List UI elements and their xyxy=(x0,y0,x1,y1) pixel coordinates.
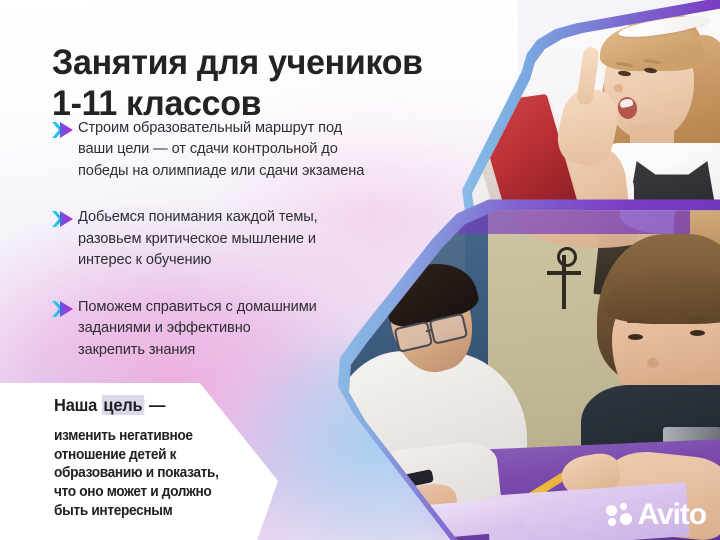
list-item-text: Поможем справиться с домашними заданиями… xyxy=(78,297,317,361)
student-eyebrow-right xyxy=(689,317,709,320)
benefits-list: Строим образовательный маршрут под ваши … xyxy=(52,118,420,386)
wall-cross-decoration xyxy=(562,255,566,309)
list-item-text: Добьемся понимания каждой темы, разовьем… xyxy=(78,207,318,271)
poster-canvas: Занятия для учеников 1-11 классов xyxy=(0,0,720,540)
student-eyebrow-left xyxy=(627,320,647,323)
list-item: Строим образовательный маршрут под ваши … xyxy=(52,118,420,182)
avito-watermark: Avito xyxy=(606,500,706,530)
girl-nose xyxy=(614,84,623,92)
goal-title-highlight: цель xyxy=(102,395,145,415)
list-item: Поможем справиться с домашними заданиями… xyxy=(52,297,420,361)
goal-title-prefix: Наша xyxy=(54,395,102,415)
list-item: Добьемся понимания каждой темы, разовьем… xyxy=(52,207,420,271)
list-item-text: Строим образовательный маршрут под ваши … xyxy=(78,118,364,182)
page-title: Занятия для учеников 1-11 классов xyxy=(52,43,469,124)
student-eye-left xyxy=(628,334,643,340)
double-chevron-icon xyxy=(52,301,78,317)
student-nose xyxy=(647,358,659,368)
goal-body-text: изменить негативное отношение детей к об… xyxy=(54,427,254,521)
girl-collar xyxy=(618,143,688,169)
avito-wordmark: Avito xyxy=(638,500,706,530)
goal-title-dash: — xyxy=(144,395,165,415)
avito-logo-icon xyxy=(606,503,632,527)
double-chevron-icon xyxy=(52,211,78,227)
double-chevron-icon xyxy=(52,122,78,138)
